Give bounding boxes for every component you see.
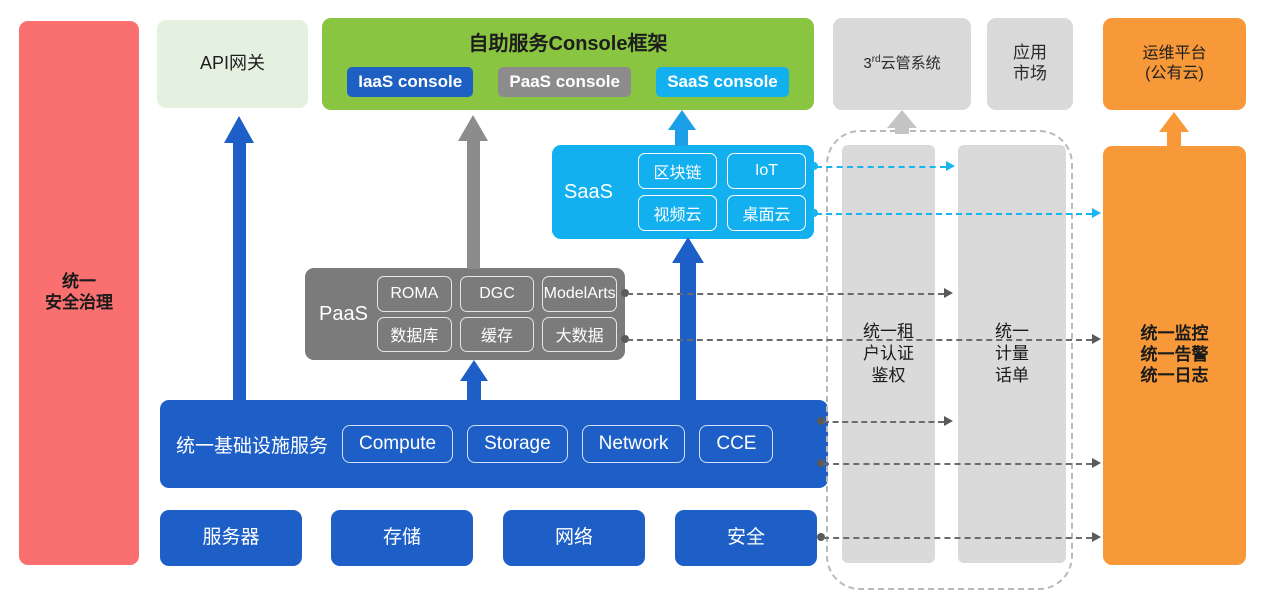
- dashed-paas-to-auth: [627, 293, 944, 295]
- arrow-iaas-to-saas-stem: [680, 262, 696, 402]
- box-ops-platform: 运维平台(公有云): [1103, 18, 1246, 110]
- arrow-iaas-to-apigw-head: [224, 116, 254, 143]
- column-unified-metering-label: 统一计量话单: [958, 321, 1066, 387]
- arrow-iaas-to-paas-stem: [467, 380, 481, 402]
- column-unified-metering: 统一计量话单: [958, 145, 1066, 563]
- dashed-saas-to-monitoring: [816, 213, 1092, 215]
- arrowhead-iaas-to-auth: [944, 416, 953, 426]
- box-resource-network[interactable]: 网络: [503, 510, 645, 566]
- iaas-item-network[interactable]: Network: [582, 425, 686, 463]
- dashed-iaas-to-monitoring: [823, 463, 1092, 465]
- arrow-monitoring-to-ops-head: [1159, 112, 1189, 132]
- box-third-party-cloud-mgmt: 3rd云管系统: [833, 18, 971, 110]
- box-saas: SaaS 区块链 IoT 视频云 桌面云: [552, 145, 814, 239]
- iaas-item-list: Compute Storage Network CCE: [342, 425, 773, 463]
- chip-paas-console[interactable]: PaaS console: [498, 67, 631, 97]
- box-unified-infrastructure: 统一基础设施服务 Compute Storage Network CCE: [160, 400, 828, 488]
- box-api-gateway: API网关: [157, 20, 308, 108]
- box-resource-network-label: 网络: [555, 526, 593, 549]
- box-app-market: 应用市场: [987, 18, 1073, 110]
- box-unified-infrastructure-label: 统一基础设施服务: [176, 431, 328, 458]
- box-paas-label: PaaS: [319, 268, 368, 360]
- box-app-market-label: 应用市场: [1013, 43, 1047, 84]
- column-unified-tenant-auth-label: 统一租户认证鉴权: [842, 321, 935, 387]
- dashed-saas-to-metering: [816, 166, 946, 168]
- iaas-item-compute[interactable]: Compute: [342, 425, 453, 463]
- dashed-resources-to-monitoring: [823, 537, 1092, 539]
- paas-item-modelarts[interactable]: ModelArts: [542, 276, 617, 312]
- architecture-diagram: 统一安全治理 API网关 自助服务Console框架 IaaS console …: [0, 0, 1265, 605]
- arrowhead-iaas-to-monitoring: [1092, 458, 1101, 468]
- arrowhead-paas-to-monitoring: [1092, 334, 1101, 344]
- arrow-saas-to-console-stem: [675, 128, 688, 146]
- paas-item-bigdata[interactable]: 大数据: [542, 317, 617, 353]
- paas-item-list: ROMA DGC ModelArts 数据库 缓存 大数据: [377, 276, 617, 352]
- arrow-iaas-to-apigw-stem: [233, 143, 246, 400]
- saas-item-blockchain[interactable]: 区块链: [638, 153, 717, 189]
- box-resource-storage[interactable]: 存储: [331, 510, 473, 566]
- column-unified-tenant-auth: 统一租户认证鉴权: [842, 145, 935, 563]
- box-resource-security[interactable]: 安全: [675, 510, 817, 566]
- saas-item-desktop-cloud[interactable]: 桌面云: [727, 195, 806, 231]
- arrowhead-resources-to-monitoring: [1092, 532, 1101, 542]
- box-third-party-cloud-mgmt-label: 3rd云管系统: [863, 54, 940, 73]
- box-resource-server[interactable]: 服务器: [160, 510, 302, 566]
- dashed-iaas-to-auth: [823, 421, 944, 423]
- chip-iaas-console[interactable]: IaaS console: [347, 67, 473, 97]
- iaas-item-storage[interactable]: Storage: [467, 425, 568, 463]
- arrowhead-saas-to-monitoring: [1092, 208, 1101, 218]
- arrow-monitoring-to-ops-stem: [1167, 131, 1181, 147]
- saas-item-iot[interactable]: IoT: [727, 153, 806, 189]
- arrow-paas-to-console-head: [458, 115, 488, 141]
- paas-item-database[interactable]: 数据库: [377, 317, 452, 353]
- panel-unified-monitoring-label: 统一监控统一告警统一日志: [1141, 324, 1209, 386]
- arrow-saas-to-console-head: [668, 110, 696, 130]
- box-saas-label: SaaS: [564, 145, 613, 239]
- box-resource-server-label: 服务器: [202, 526, 259, 549]
- panel-unified-monitoring: 统一监控统一告警统一日志: [1103, 146, 1246, 565]
- arrowhead-saas-to-metering: [946, 161, 955, 171]
- saas-item-video-cloud[interactable]: 视频云: [638, 195, 717, 231]
- paas-item-roma[interactable]: ROMA: [377, 276, 452, 312]
- arrow-paas-to-console-stem: [467, 141, 480, 269]
- box-self-service-console: 自助服务Console框架 IaaS console PaaS console …: [322, 18, 814, 110]
- box-resource-storage-label: 存储: [383, 526, 421, 549]
- box-ops-platform-label: 运维平台(公有云): [1142, 44, 1206, 83]
- chip-saas-console[interactable]: SaaS console: [656, 67, 789, 97]
- arrow-iaas-to-paas-head: [460, 360, 488, 381]
- console-title: 自助服务Console框架: [322, 27, 814, 56]
- arrowhead-paas-to-auth: [944, 288, 953, 298]
- paas-item-cache[interactable]: 缓存: [460, 317, 535, 353]
- arrow-iaas-to-saas-head: [672, 237, 704, 263]
- box-paas: PaaS ROMA DGC ModelArts 数据库 缓存 大数据: [305, 268, 625, 360]
- console-chip-list: IaaS console PaaS console SaaS console: [322, 66, 814, 98]
- iaas-item-cce[interactable]: CCE: [699, 425, 773, 463]
- panel-unified-security: 统一安全治理: [19, 21, 139, 565]
- box-api-gateway-label: API网关: [200, 53, 265, 75]
- panel-unified-security-label: 统一安全治理: [45, 272, 113, 313]
- saas-item-list: 区块链 IoT 视频云 桌面云: [638, 153, 806, 231]
- box-resource-security-label: 安全: [727, 526, 765, 549]
- paas-item-dgc[interactable]: DGC: [460, 276, 535, 312]
- arrow-shared-to-3rd-head: [887, 110, 917, 128]
- dashed-paas-to-monitoring: [627, 339, 1092, 341]
